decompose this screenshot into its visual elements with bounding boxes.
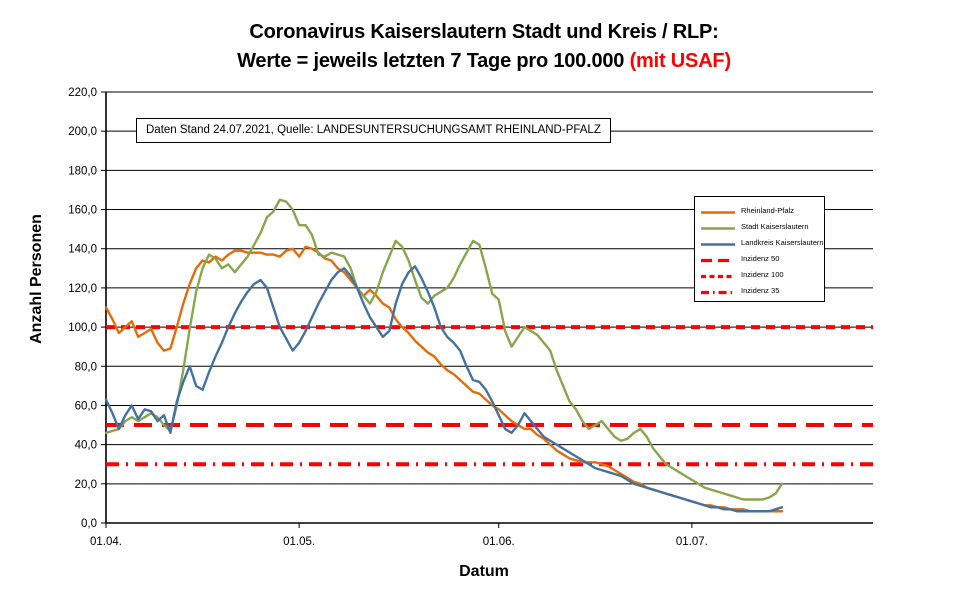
legend-item: Stadt Kaiserslautern: [695, 218, 824, 234]
y-axis-tick-label: 40,0: [75, 440, 97, 452]
legend-item: Inzidenz 50: [695, 250, 824, 266]
y-axis-tick-label: 0,0: [81, 518, 97, 530]
y-axis-tick-label: 120,0: [68, 283, 97, 295]
x-axis-tick-label: 01.07.: [676, 536, 708, 548]
legend-swatch-icon: [700, 253, 736, 264]
legend-swatch-icon: [700, 221, 736, 232]
legend-item-label: Inzidenz 35: [741, 286, 779, 295]
y-axis-tick-label: 220,0: [68, 87, 97, 99]
legend-swatch-icon: [700, 205, 736, 216]
y-axis-tick-label: 80,0: [75, 361, 97, 373]
legend-item-label: Inzidenz 100: [741, 270, 784, 279]
y-axis-tick-label: 60,0: [75, 400, 97, 412]
legend-item-label: Landkreis Kaiserslautern: [741, 238, 824, 247]
legend-swatch-icon: [700, 285, 736, 296]
legend-item: Inzidenz 100: [695, 266, 824, 282]
plot-area: 0,020,040,060,080,0100,0120,0140,0160,01…: [0, 0, 968, 604]
chart-legend: Rheinland-PfalzStadt KaiserslauternLandk…: [694, 196, 825, 302]
chart-container: Coronavirus Kaiserslautern Stadt und Kre…: [0, 0, 968, 604]
y-axis-tick-label: 140,0: [68, 244, 97, 256]
legend-swatch-icon: [700, 269, 736, 280]
legend-item: Rheinland-Pfalz: [695, 202, 824, 218]
y-axis-tick-label: 180,0: [68, 165, 97, 177]
x-axis-tick-label: 01.05.: [283, 536, 315, 548]
series-line: [106, 266, 782, 511]
y-axis-tick-label: 100,0: [68, 322, 97, 334]
series-line: [106, 200, 782, 500]
legend-swatch-icon: [700, 237, 736, 248]
x-axis-tick-label: 01.04.: [90, 536, 122, 548]
legend-item-label: Stadt Kaiserslautern: [741, 222, 809, 231]
y-axis-tick-label: 20,0: [75, 479, 97, 491]
legend-item-label: Rheinland-Pfalz: [741, 206, 794, 215]
legend-item-label: Inzidenz 50: [741, 254, 779, 263]
legend-item: Landkreis Kaiserslautern: [695, 234, 824, 250]
y-axis-tick-label: 160,0: [68, 205, 97, 217]
data-source-note: Daten Stand 24.07.2021, Quelle: LANDESUN…: [136, 118, 611, 143]
x-axis-tick-label: 01.06.: [483, 536, 515, 548]
y-axis-tick-label: 200,0: [68, 126, 97, 138]
legend-item: Inzidenz 35: [695, 282, 824, 298]
